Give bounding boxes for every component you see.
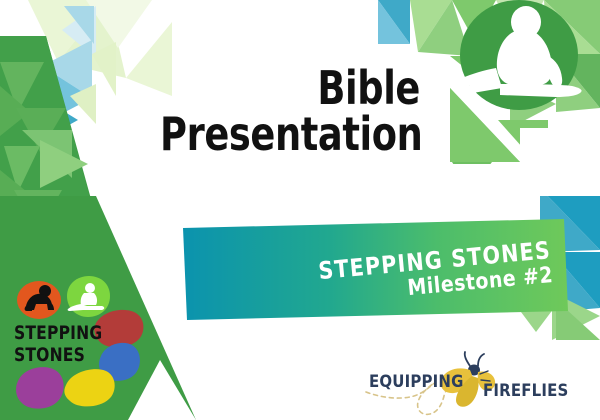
ss-word-line-2: STONES: [14, 344, 102, 366]
deco-r-green-16: [552, 292, 600, 340]
deco-triangle-green-2: [0, 86, 30, 136]
equipping-word: EQUIPPING: [369, 372, 464, 392]
child-silhouette: [457, 6, 582, 97]
deco-r-green-4: [496, 0, 544, 46]
deco-r-teal-1: [378, 0, 410, 44]
deco-r-green-10: [450, 56, 510, 104]
deco-triangle-green-5: [4, 146, 40, 192]
deco-triangle-green-9: [0, 196, 26, 224]
page-title: Bible Presentation: [95, 66, 420, 157]
deco-triangle-teal-2: [64, 6, 94, 44]
purple-stone: [16, 367, 64, 409]
light-green-stone: [67, 276, 110, 317]
firefly-leg-1: [480, 371, 488, 374]
orange-stone: [17, 281, 61, 319]
deco-r-teal-2: [378, 0, 410, 44]
deco-triangle-green-4: [22, 130, 72, 178]
deco-triangle-green-6: [0, 170, 32, 222]
deco-r-green-12: [450, 88, 520, 162]
ss-word-line-1: STEPPING: [14, 322, 102, 344]
deco-white-mask-4: [450, 164, 600, 190]
crawling-baby-icon: [25, 285, 54, 311]
deco-r-teal-7: [496, 172, 534, 214]
deco-white-mask-9: [520, 128, 556, 172]
deco-triangle-teal-1: [62, 6, 96, 58]
deco-r-green-15: [498, 120, 548, 176]
fireflies-word: FIREFLIES: [483, 381, 568, 401]
deco-r-green-18: [512, 300, 560, 332]
deco-triangle-pale-4: [86, 0, 152, 48]
deco-triangle-teal-5: [42, 98, 78, 140]
deco-triangle-green-8: [40, 140, 88, 188]
badge-circle: [460, 0, 578, 110]
deco-r-teal-6: [552, 252, 600, 312]
firefly-antenna-left: [465, 352, 470, 366]
deco-triangle-green-7: [14, 190, 62, 232]
banner-text-block: STEPPING STONES Milestone #2: [251, 238, 554, 316]
deco-white-mask-6: [548, 110, 556, 190]
deco-r-green-9: [498, 40, 544, 86]
firefly-antenna-right: [478, 354, 484, 366]
deco-triangle-pale-1: [28, 0, 108, 62]
deco-r-green-17: [556, 300, 600, 344]
stepping-stones-wordmark: STEPPING STONES: [14, 322, 122, 367]
deco-white-mask-7: [470, 190, 600, 196]
deco-triangle-teal-4: [42, 66, 92, 124]
deco-white-mask-8: [498, 340, 600, 420]
deco-r-green-3: [452, 0, 496, 40]
yellow-stone: [64, 369, 114, 406]
deco-r-green-8: [556, 54, 600, 112]
deco-r-teal-5: [552, 252, 600, 308]
deco-r-green-13: [450, 88, 520, 162]
deco-triangle-teal-3: [42, 40, 92, 98]
deco-triangle-pale-6: [70, 84, 96, 124]
deco-r-green-11: [510, 80, 556, 128]
deco-r-green-7: [556, 54, 600, 108]
deco-green-panel: [0, 196, 196, 420]
sitting-child-icon: [68, 283, 105, 311]
deco-triangle-green-1: [0, 62, 44, 112]
title-line-2: Presentation: [160, 112, 420, 158]
deco-white-notch: [128, 360, 196, 420]
deco-r-green-1: [410, 0, 452, 52]
deco-r-green-5: [544, 0, 600, 54]
deco-r-green-14: [452, 162, 492, 190]
deco-triangle-green-3: [16, 108, 66, 152]
presentation-slide: STEPPING STONES Milestone #2 Bible Prese…: [0, 0, 600, 420]
firefly-head: [468, 365, 480, 376]
title-line-1: Bible: [160, 66, 420, 112]
deco-r-green-2: [418, 0, 470, 56]
deco-r-green-6: [544, 0, 600, 62]
